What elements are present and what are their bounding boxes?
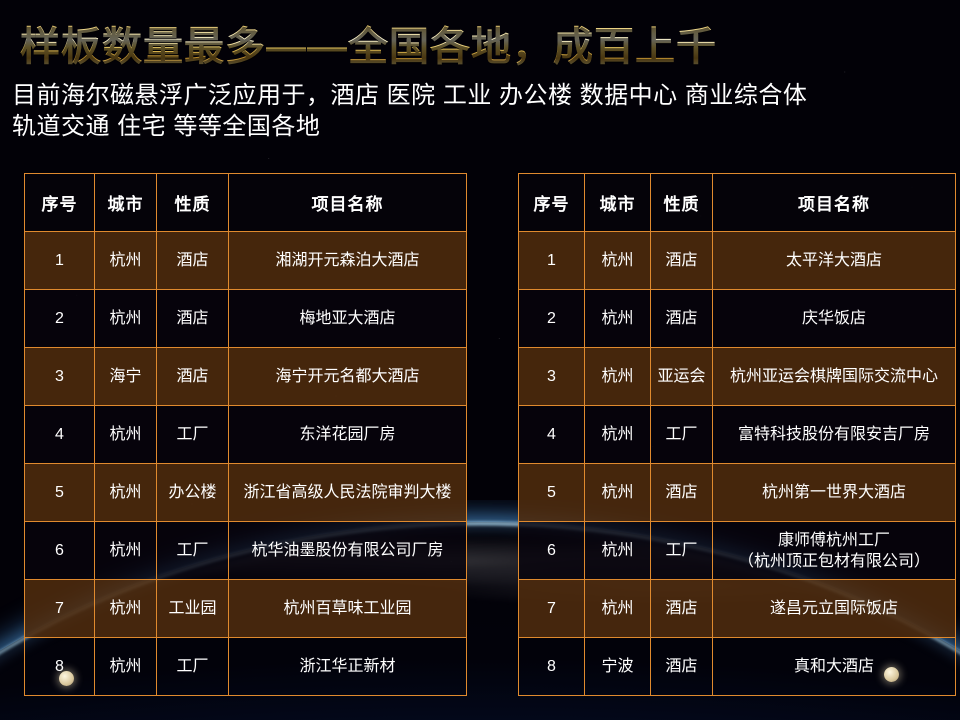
cell-project-name: 湘湖开元森泊大酒店	[229, 232, 467, 290]
table-row: 5杭州办公楼浙江省高级人民法院审判大楼	[25, 464, 467, 522]
table-left-header: 序号 城市 性质 项目名称	[25, 174, 467, 232]
cell-city: 宁波	[585, 638, 651, 696]
table-row: 3海宁酒店海宁开元名都大酒店	[25, 348, 467, 406]
cell-index: 5	[25, 464, 95, 522]
slide-title: 样板数量最多——全国各地，成百上千	[20, 14, 717, 72]
table-row: 4杭州工厂富特科技股份有限安吉厂房	[519, 406, 956, 464]
table-row: 6杭州工厂康师傅杭州工厂（杭州顶正包材有限公司）	[519, 522, 956, 580]
cell-type: 工业园	[157, 580, 229, 638]
cell-city: 杭州	[585, 464, 651, 522]
cell-index: 8	[519, 638, 585, 696]
cell-index: 7	[519, 580, 585, 638]
subtitle-line-1: 目前海尔磁悬浮广泛应用于，酒店 医院 工业 办公楼 数据中心 商业综合体	[12, 80, 942, 111]
cell-city: 杭州	[95, 522, 157, 580]
cell-city: 海宁	[95, 348, 157, 406]
col-header-index: 序号	[519, 174, 585, 232]
cell-project-name: 梅地亚大酒店	[229, 290, 467, 348]
project-table-left: 序号 城市 性质 项目名称 1杭州酒店湘湖开元森泊大酒店2杭州酒店梅地亚大酒店3…	[24, 173, 467, 696]
cell-type: 工厂	[157, 522, 229, 580]
cell-index: 2	[519, 290, 585, 348]
cell-type: 酒店	[157, 348, 229, 406]
cell-project-name: 海宁开元名都大酒店	[229, 348, 467, 406]
table-row: 3杭州亚运会杭州亚运会棋牌国际交流中心	[519, 348, 956, 406]
cell-index: 3	[25, 348, 95, 406]
table-row: 8宁波酒店真和大酒店	[519, 638, 956, 696]
cell-type: 酒店	[157, 290, 229, 348]
table-row: 7杭州工业园杭州百草味工业园	[25, 580, 467, 638]
cell-type: 酒店	[651, 290, 713, 348]
cell-project-name: 康师傅杭州工厂（杭州顶正包材有限公司）	[713, 522, 956, 580]
table-row: 7杭州酒店遂昌元立国际饭店	[519, 580, 956, 638]
table-left-body: 1杭州酒店湘湖开元森泊大酒店2杭州酒店梅地亚大酒店3海宁酒店海宁开元名都大酒店4…	[25, 232, 467, 696]
cell-type: 酒店	[651, 638, 713, 696]
cell-index: 4	[25, 406, 95, 464]
cell-project-name: 杭州亚运会棋牌国际交流中心	[713, 348, 956, 406]
col-header-project-name: 项目名称	[229, 174, 467, 232]
cell-city: 杭州	[95, 406, 157, 464]
cell-project-name: 杭华油墨股份有限公司厂房	[229, 522, 467, 580]
slide-canvas: 样板数量最多——全国各地，成百上千 目前海尔磁悬浮广泛应用于，酒店 医院 工业 …	[0, 0, 960, 720]
slide-subtitle: 目前海尔磁悬浮广泛应用于，酒店 医院 工业 办公楼 数据中心 商业综合体 轨道交…	[12, 80, 942, 142]
table-row: 4杭州工厂东洋花园厂房	[25, 406, 467, 464]
cell-type: 亚运会	[651, 348, 713, 406]
cell-city: 杭州	[585, 580, 651, 638]
cell-city: 杭州	[95, 638, 157, 696]
cell-city: 杭州	[95, 580, 157, 638]
table-header-row: 序号 城市 性质 项目名称	[519, 174, 956, 232]
table-row: 1杭州酒店湘湖开元森泊大酒店	[25, 232, 467, 290]
cell-index: 1	[25, 232, 95, 290]
table-right-body: 1杭州酒店太平洋大酒店2杭州酒店庆华饭店3杭州亚运会杭州亚运会棋牌国际交流中心4…	[519, 232, 956, 696]
cell-city: 杭州	[585, 348, 651, 406]
cell-index: 8	[25, 638, 95, 696]
cell-index: 3	[519, 348, 585, 406]
cell-type: 工厂	[157, 638, 229, 696]
cell-project-name: 富特科技股份有限安吉厂房	[713, 406, 956, 464]
table-row: 5杭州酒店杭州第一世界大酒店	[519, 464, 956, 522]
cell-project-name: 东洋花园厂房	[229, 406, 467, 464]
cell-city: 杭州	[95, 464, 157, 522]
table-row: 6杭州工厂杭华油墨股份有限公司厂房	[25, 522, 467, 580]
cell-type: 酒店	[651, 580, 713, 638]
cell-type: 工厂	[651, 522, 713, 580]
cell-type: 工厂	[651, 406, 713, 464]
cell-index: 5	[519, 464, 585, 522]
cell-index: 1	[519, 232, 585, 290]
cell-index: 4	[519, 406, 585, 464]
cell-project-name: 真和大酒店	[713, 638, 956, 696]
cell-index: 7	[25, 580, 95, 638]
table-row: 8杭州工厂浙江华正新材	[25, 638, 467, 696]
cell-project-name: 杭州百草味工业园	[229, 580, 467, 638]
cell-city: 杭州	[585, 232, 651, 290]
cell-type: 工厂	[157, 406, 229, 464]
cell-project-name: 太平洋大酒店	[713, 232, 956, 290]
subtitle-line-2: 轨道交通 住宅 等等全国各地	[12, 111, 942, 142]
cell-type: 办公楼	[157, 464, 229, 522]
cell-city: 杭州	[585, 290, 651, 348]
table-row: 2杭州酒店庆华饭店	[519, 290, 956, 348]
col-header-city: 城市	[585, 174, 651, 232]
cell-type: 酒店	[157, 232, 229, 290]
cell-city: 杭州	[95, 290, 157, 348]
cell-project-name: 杭州第一世界大酒店	[713, 464, 956, 522]
project-table-right: 序号 城市 性质 项目名称 1杭州酒店太平洋大酒店2杭州酒店庆华饭店3杭州亚运会…	[518, 173, 956, 696]
cell-type: 酒店	[651, 464, 713, 522]
cell-index: 6	[25, 522, 95, 580]
col-header-type: 性质	[157, 174, 229, 232]
cell-project-name: 浙江省高级人民法院审判大楼	[229, 464, 467, 522]
cell-city: 杭州	[95, 232, 157, 290]
cell-project-name: 庆华饭店	[713, 290, 956, 348]
cell-city: 杭州	[585, 522, 651, 580]
table-row: 2杭州酒店梅地亚大酒店	[25, 290, 467, 348]
cell-project-name: 遂昌元立国际饭店	[713, 580, 956, 638]
col-header-project-name: 项目名称	[713, 174, 956, 232]
col-header-city: 城市	[95, 174, 157, 232]
cell-index: 2	[25, 290, 95, 348]
cell-city: 杭州	[585, 406, 651, 464]
cell-project-name: 浙江华正新材	[229, 638, 467, 696]
cell-index: 6	[519, 522, 585, 580]
table-header-row: 序号 城市 性质 项目名称	[25, 174, 467, 232]
cell-type: 酒店	[651, 232, 713, 290]
table-row: 1杭州酒店太平洋大酒店	[519, 232, 956, 290]
col-header-type: 性质	[651, 174, 713, 232]
col-header-index: 序号	[25, 174, 95, 232]
table-right-header: 序号 城市 性质 项目名称	[519, 174, 956, 232]
